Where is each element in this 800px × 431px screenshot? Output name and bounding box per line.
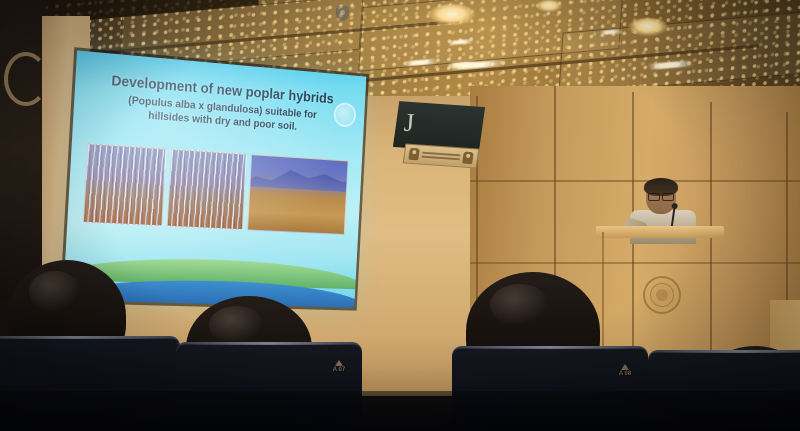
exit-person-icon xyxy=(408,148,420,161)
watermark-emblem-icon xyxy=(336,6,349,21)
foreground-floor-shadow xyxy=(0,391,800,431)
sign-text-lines xyxy=(421,150,460,163)
speaker-glasses-icon xyxy=(648,193,674,199)
seat-top-edge xyxy=(176,342,362,345)
seat-number-label: A 07 xyxy=(330,360,348,375)
seat-top-edge xyxy=(648,350,800,353)
wall-letter-glyph: J xyxy=(403,108,415,139)
seat-top-edge xyxy=(452,346,648,349)
foreground-audience: A 07 A 08 A 09 xyxy=(0,250,800,431)
seat-number: 08 xyxy=(625,371,632,377)
assembly-point-icon xyxy=(462,152,474,165)
seat-row-letter: A xyxy=(619,371,623,377)
seat-row-letter: A xyxy=(333,367,337,373)
seat-number: 07 xyxy=(339,367,346,373)
seat-triangle-icon xyxy=(621,364,629,370)
seat-triangle-icon xyxy=(335,360,343,366)
recessed-downlight xyxy=(628,18,668,36)
seat-top-edge xyxy=(0,336,180,339)
presentation-photo: J Development of new poplar hybrids (Pop… xyxy=(0,0,800,431)
recessed-downlight xyxy=(536,0,562,12)
image-watermark xyxy=(336,2,536,24)
seat-number-label: A 08 xyxy=(616,364,634,379)
